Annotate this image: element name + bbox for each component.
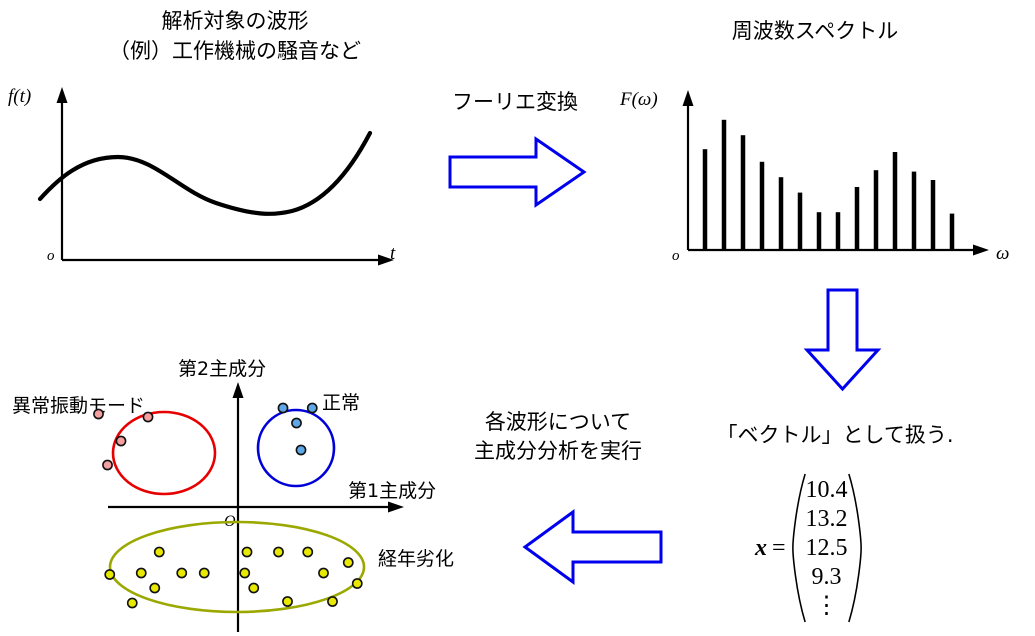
pca-data-point — [143, 412, 152, 421]
pca-data-point — [308, 403, 317, 412]
pca-step-arrow — [520, 508, 665, 586]
spectrum-bar — [817, 212, 822, 250]
pca-data-point — [200, 568, 209, 577]
spectrum-bar — [741, 135, 746, 250]
vector-symbol: x — [755, 535, 767, 562]
spectrum-bar — [836, 212, 841, 250]
spectrum-bar — [779, 177, 784, 250]
cluster-outline-abnormal-vibration-mode — [113, 412, 215, 494]
vector-equals-sign: = — [772, 535, 786, 562]
spectrum-bar — [855, 187, 860, 250]
diagram-canvas: 解析対象の波形 （例）工作機械の騒音など f(t) t o フーリエ変換 周波数… — [0, 0, 1035, 636]
pca-step-label-line2: 主成分分析を実行 — [468, 437, 648, 466]
pca-data-point — [292, 418, 301, 427]
to-vector-arrow — [800, 288, 885, 393]
pca-data-point — [155, 547, 164, 556]
pca-data-point — [105, 570, 114, 579]
spectrum-x-axis-arrowhead — [973, 245, 989, 256]
vector-value: 12.5 — [806, 534, 848, 563]
pca-x-axis-arrowhead — [388, 502, 404, 513]
pca-data-point — [303, 547, 312, 556]
pca-step-label-line1: 各波形について — [468, 408, 648, 437]
spectrum-bars — [703, 120, 955, 250]
pca-data-point — [274, 547, 283, 556]
pca-data-point — [103, 460, 112, 469]
pca-data-point — [328, 597, 337, 606]
vector-right-paren — [848, 472, 862, 624]
waveform-title-line2: （例）工作機械の騒音など — [50, 36, 420, 66]
pca-data-point — [137, 568, 146, 577]
spectrum-plot — [655, 90, 1000, 270]
right-arrow-shape — [450, 139, 584, 205]
vector-value: 10.4 — [806, 476, 848, 505]
waveform-title-line1: 解析対象の波形 — [70, 6, 400, 36]
pca-data-point — [116, 436, 125, 445]
waveform-x-axis-arrowhead — [378, 255, 394, 266]
spectrum-title: 周波数スペクトル — [690, 16, 940, 46]
vector-value: 9.3 — [812, 563, 842, 592]
down-arrow-shape — [807, 290, 878, 389]
pca-y-axis-arrowhead — [233, 382, 244, 398]
vector-value: 13.2 — [806, 505, 848, 534]
pca-data-point — [344, 558, 353, 567]
spectrum-bar — [760, 162, 765, 250]
spectrum-bar — [798, 193, 803, 250]
spectrum-bar — [722, 120, 727, 250]
pca-data-point — [240, 568, 249, 577]
spectrum-y-axis-arrowhead — [683, 90, 694, 106]
pca-data-point — [94, 409, 103, 418]
spectrum-bar — [703, 149, 708, 250]
fourier-arrow-label: フーリエ変換 — [435, 88, 595, 117]
waveform-y-axis-label: f(t) — [8, 86, 31, 108]
vector-caption: 「ベクトル」として扱う. — [710, 420, 960, 450]
spectrum-bar — [893, 152, 898, 250]
fourier-transform-arrow — [448, 135, 588, 210]
pca-data-point — [242, 547, 251, 556]
pca-data-point — [283, 597, 292, 606]
spectrum-bar — [950, 214, 955, 250]
pca-data-point — [353, 579, 362, 588]
waveform-y-axis-arrowhead — [57, 87, 68, 103]
left-arrow-shape — [525, 512, 661, 582]
spectrum-bar — [874, 170, 879, 250]
pca-data-point — [278, 403, 287, 412]
pca-points — [94, 403, 362, 607]
pca-data-point — [249, 583, 258, 592]
pca-data-point — [128, 598, 137, 607]
vector-left-paren — [792, 472, 806, 624]
vector-expression: x = 10.413.212.59.3⋮ — [755, 472, 862, 624]
spectrum-bar — [931, 180, 936, 250]
vector-values: 10.413.212.59.3⋮ — [806, 476, 848, 621]
vector-value: ⋮ — [815, 592, 839, 621]
waveform-curve — [40, 133, 370, 214]
waveform-plot — [30, 85, 400, 270]
pca-data-point — [150, 583, 159, 592]
spectrum-bar — [912, 172, 917, 250]
pca-data-point — [319, 568, 328, 577]
pca-data-point — [177, 568, 186, 577]
spectrum-y-axis-label: F(ω) — [620, 89, 658, 111]
pca-scatter-plot — [0, 370, 440, 636]
pca-data-point — [296, 445, 305, 454]
